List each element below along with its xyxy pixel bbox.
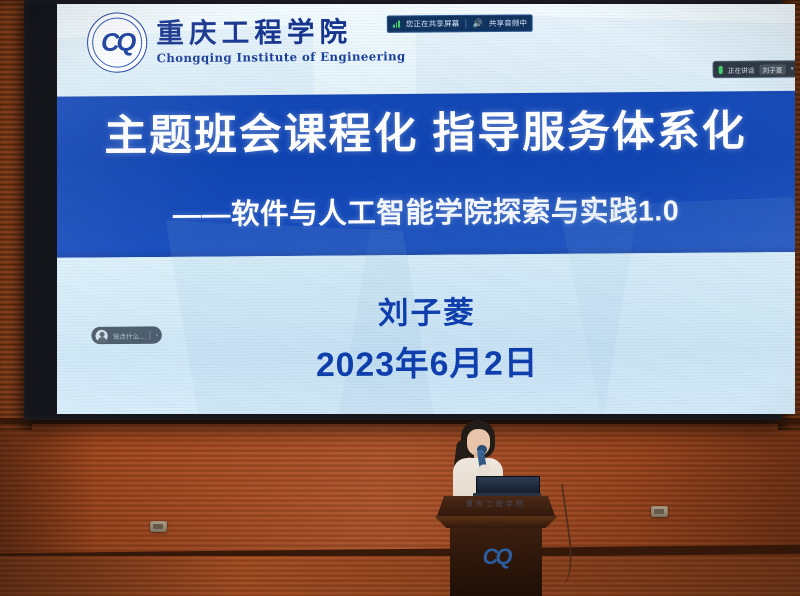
divider bbox=[150, 331, 151, 340]
school-logo: CQ 重庆工程学院 Chongqing Institute of Enginee… bbox=[87, 10, 406, 73]
signal-bars-icon bbox=[393, 21, 400, 28]
podium-top: 重庆工程学院 bbox=[437, 496, 555, 516]
school-name-en: Chongqing Institute of Engineering bbox=[156, 49, 405, 65]
wall-outlet-left bbox=[150, 521, 167, 532]
laptop bbox=[473, 476, 541, 498]
wall-outlet-right bbox=[651, 506, 668, 517]
chat-input-pill[interactable]: 说点什么... ‹ bbox=[91, 326, 162, 344]
podium-text: 重庆工程学院 bbox=[437, 499, 555, 509]
lower-wall-panel bbox=[0, 556, 800, 596]
share-status-label: 您正在共享屏幕 bbox=[406, 18, 460, 30]
share-audio-label: 共享音频中 bbox=[489, 17, 527, 29]
chevron-down-icon[interactable]: ▾ bbox=[791, 65, 794, 72]
notification-label: 正在讲话 bbox=[728, 64, 755, 74]
led-screen-bezel: CQ 重庆工程学院 Chongqing Institute of Enginee… bbox=[24, 0, 782, 420]
screen-share-bar[interactable]: 您正在共享屏幕 🔊 共享音频中 bbox=[387, 14, 533, 32]
school-name-cn: 重庆工程学院 bbox=[156, 18, 405, 47]
divider bbox=[465, 19, 466, 28]
user-avatar-icon bbox=[95, 329, 107, 341]
presentation-date: 2023年6月2日 bbox=[57, 334, 795, 389]
notification-chip: 刘子菱 bbox=[759, 64, 785, 74]
presenter-name: 刘子菱 bbox=[57, 285, 795, 336]
podium: 重庆工程学院 CQ bbox=[437, 496, 555, 596]
podium-lip bbox=[434, 516, 558, 528]
speaker-icon: 🔊 bbox=[472, 19, 482, 28]
led-screen-panel: CQ 重庆工程学院 Chongqing Institute of Enginee… bbox=[57, 4, 795, 414]
lecture-hall-photo: CQ 重庆工程学院 Chongqing Institute of Enginee… bbox=[0, 0, 800, 596]
speaking-notification[interactable]: 正在讲话 刘子菱 ▾ bbox=[712, 60, 795, 78]
school-seal-icon: CQ bbox=[87, 12, 148, 73]
seal-monogram: CQ bbox=[101, 28, 133, 58]
chat-placeholder[interactable]: 说点什么... bbox=[113, 330, 145, 340]
slide-title: 主题班会课程化 指导服务体系化 bbox=[57, 108, 795, 159]
slide-footer-area: 刘子菱 2023年6月2日 bbox=[57, 252, 795, 414]
presentation-slide: CQ 重庆工程学院 Chongqing Institute of Enginee… bbox=[57, 4, 795, 414]
podium-emblem-icon: CQ bbox=[483, 544, 510, 570]
chevron-right-icon[interactable]: ‹ bbox=[156, 332, 158, 338]
green-dot-icon bbox=[719, 65, 723, 73]
